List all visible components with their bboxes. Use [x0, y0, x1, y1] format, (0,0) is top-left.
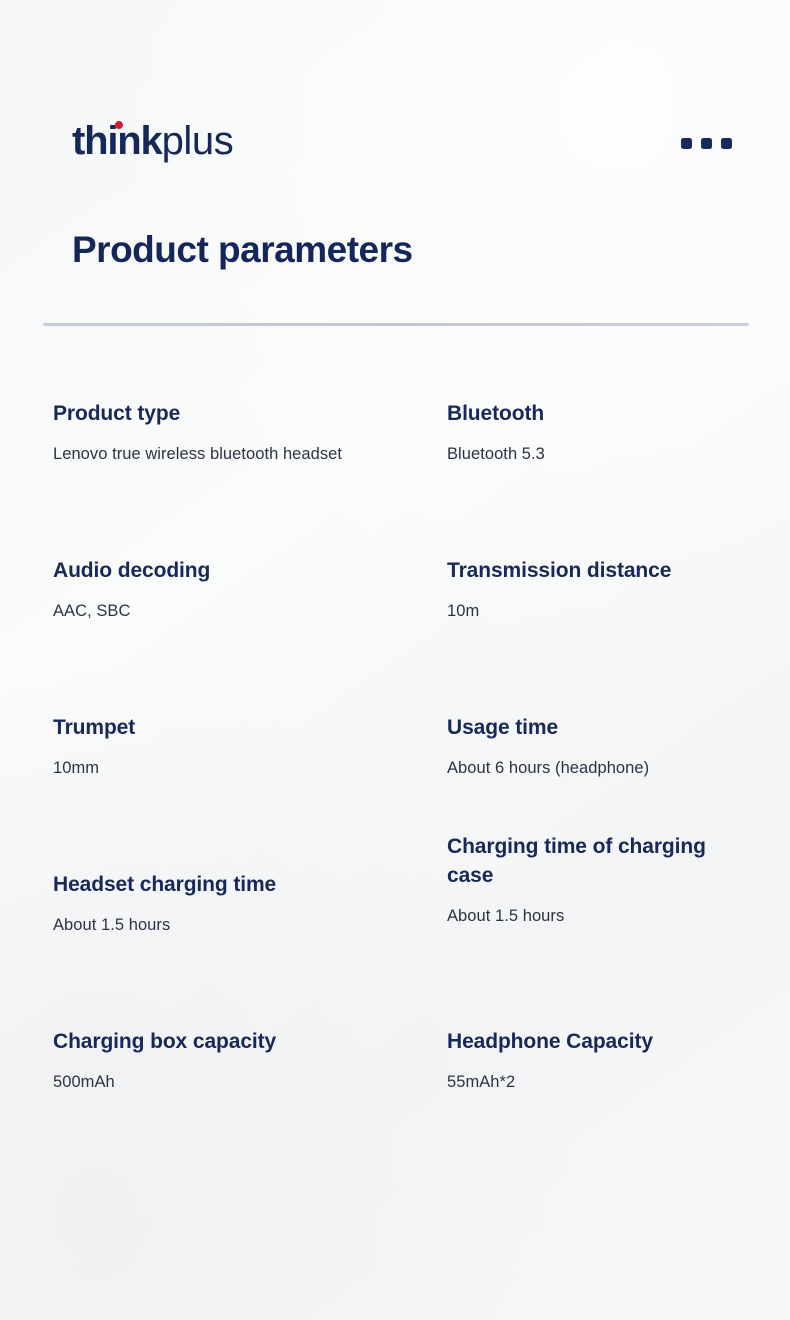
spec-label: Bluetooth	[447, 400, 747, 429]
spec-item-charging-case-time: Charging time of charging case About 1.5…	[447, 871, 747, 928]
spec-grid: Product type Lenovo true wireless blueto…	[0, 400, 790, 1185]
spec-value: 10m	[447, 600, 747, 623]
menu-dot-icon	[721, 138, 732, 149]
logo-red-dot-icon	[115, 121, 123, 129]
spec-item-product-type: Product type Lenovo true wireless blueto…	[53, 400, 433, 466]
spec-row: Audio decoding AAC, SBC Transmission dis…	[0, 557, 790, 714]
spec-item-transmission-distance: Transmission distance 10m	[447, 557, 747, 623]
spec-value: About 6 hours (headphone)	[447, 757, 747, 780]
spec-value: AAC, SBC	[53, 600, 433, 623]
spec-label: Charging time of charging case	[447, 833, 747, 891]
spec-item-headset-charging-time: Headset charging time About 1.5 hours	[53, 871, 433, 937]
menu-dot-icon	[681, 138, 692, 149]
title-divider	[43, 323, 749, 326]
spec-value: Lenovo true wireless bluetooth headset	[53, 443, 433, 466]
spec-item-headphone-capacity: Headphone Capacity 55mAh*2	[447, 1028, 747, 1094]
spec-label: Transmission distance	[447, 557, 747, 586]
menu-dot-icon	[701, 138, 712, 149]
spec-label: Usage time	[447, 714, 747, 743]
spec-value: 10mm	[53, 757, 433, 780]
spec-value: About 1.5 hours	[447, 905, 747, 928]
product-parameters-page: thinkplus Product parameters Product typ…	[0, 0, 790, 1320]
more-options-button[interactable]	[681, 138, 732, 149]
spec-value: 55mAh*2	[447, 1071, 747, 1094]
spec-label: Product type	[53, 400, 433, 429]
spec-value: About 1.5 hours	[53, 914, 433, 937]
page-title: Product parameters	[72, 228, 413, 272]
spec-item-audio-decoding: Audio decoding AAC, SBC	[53, 557, 433, 623]
spec-label: Audio decoding	[53, 557, 433, 586]
logo-wordmark: thinkplus	[72, 117, 233, 165]
spec-row: Product type Lenovo true wireless blueto…	[0, 400, 790, 557]
spec-value: Bluetooth 5.3	[447, 443, 747, 466]
spec-item-charging-box-capacity: Charging box capacity 500mAh	[53, 1028, 433, 1094]
thinkplus-logo: thinkplus	[72, 117, 233, 165]
spec-item-trumpet: Trumpet 10mm	[53, 714, 433, 780]
logo-plus-text: plus	[162, 119, 234, 163]
page-header: thinkplus	[0, 0, 790, 205]
spec-row: Charging box capacity 500mAh Headphone C…	[0, 1028, 790, 1185]
spec-item-bluetooth: Bluetooth Bluetooth 5.3	[447, 400, 747, 466]
spec-value: 500mAh	[53, 1071, 433, 1094]
spec-row: Headset charging time About 1.5 hours Ch…	[0, 871, 790, 1028]
spec-label: Trumpet	[53, 714, 433, 743]
spec-label: Headset charging time	[53, 871, 433, 900]
spec-label: Headphone Capacity	[447, 1028, 747, 1057]
spec-label: Charging box capacity	[53, 1028, 433, 1057]
spec-item-usage-time: Usage time About 6 hours (headphone)	[447, 714, 747, 780]
